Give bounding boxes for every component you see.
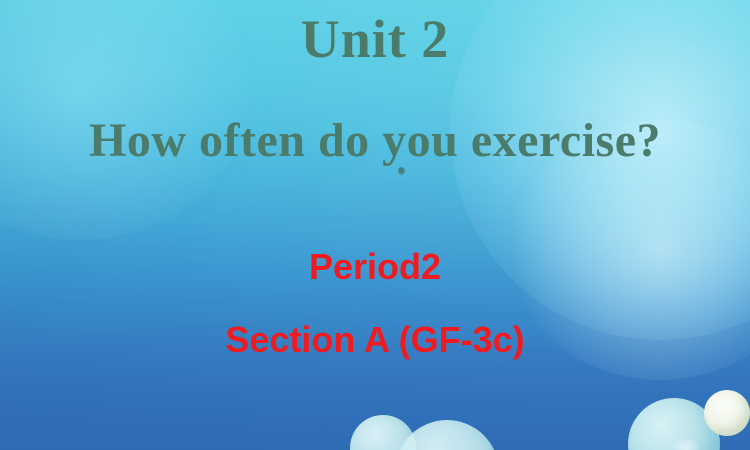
slide-subtitle-section: Section A (GF-3c)	[0, 322, 750, 358]
presentation-slide: Unit 2 How often do you exercise? Period…	[0, 0, 750, 450]
slide-title-question: How often do you exercise?	[0, 117, 750, 165]
slide-subtitle-period: Period2	[0, 249, 750, 285]
slide-title-unit: Unit 2	[0, 12, 750, 66]
slide-text-layer: Unit 2 How often do you exercise? Period…	[0, 0, 750, 450]
